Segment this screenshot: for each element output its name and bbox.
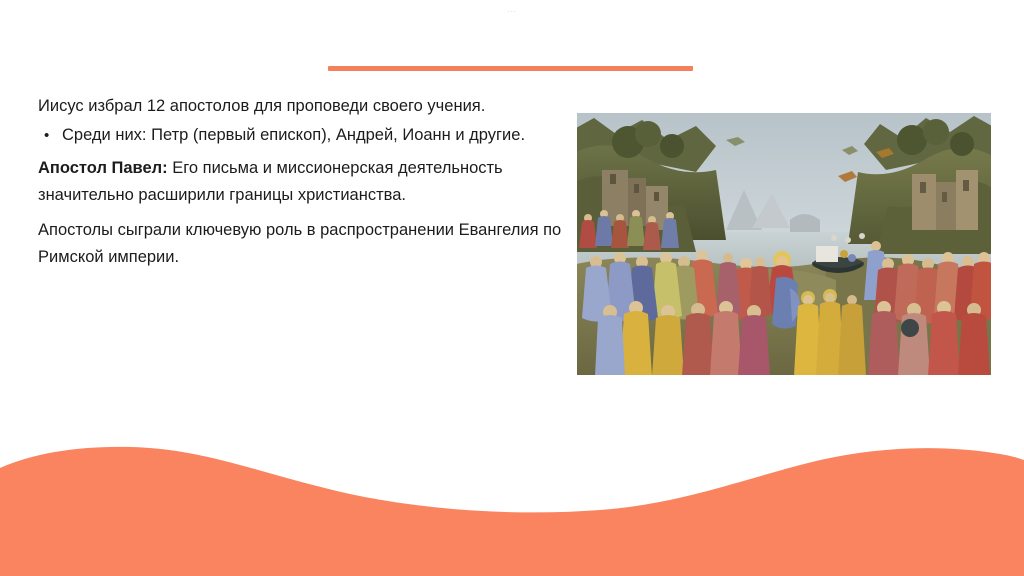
bottom-wave-decoration — [0, 416, 1024, 576]
bullet-dot-icon: • — [38, 122, 55, 149]
bullet-item-label: Среди них: Петр (первый епископ), Андрей… — [55, 122, 572, 149]
paragraph-intro: Иисус избрал 12 апостолов для проповеди … — [38, 93, 572, 120]
paragraph-spread: Апостолы сыграли ключевую роль в распрос… — [38, 217, 572, 271]
paragraph-paul: Апостол Павел: Его письма и миссионерска… — [38, 155, 572, 209]
top-placeholder-mark: ... — [503, 6, 521, 13]
bullet-item-apostles: • Среди них: Петр (первый епископ), Андр… — [38, 122, 572, 149]
slide-canvas: ... Иисус избрал 12 апостолов для пропов… — [0, 0, 1024, 576]
accent-rule — [328, 66, 693, 71]
paragraph-paul-lead: Апостол Павел: — [38, 159, 168, 177]
fresco-image — [576, 112, 992, 376]
body-text-block: Иисус избрал 12 апостолов для проповеди … — [38, 93, 572, 273]
